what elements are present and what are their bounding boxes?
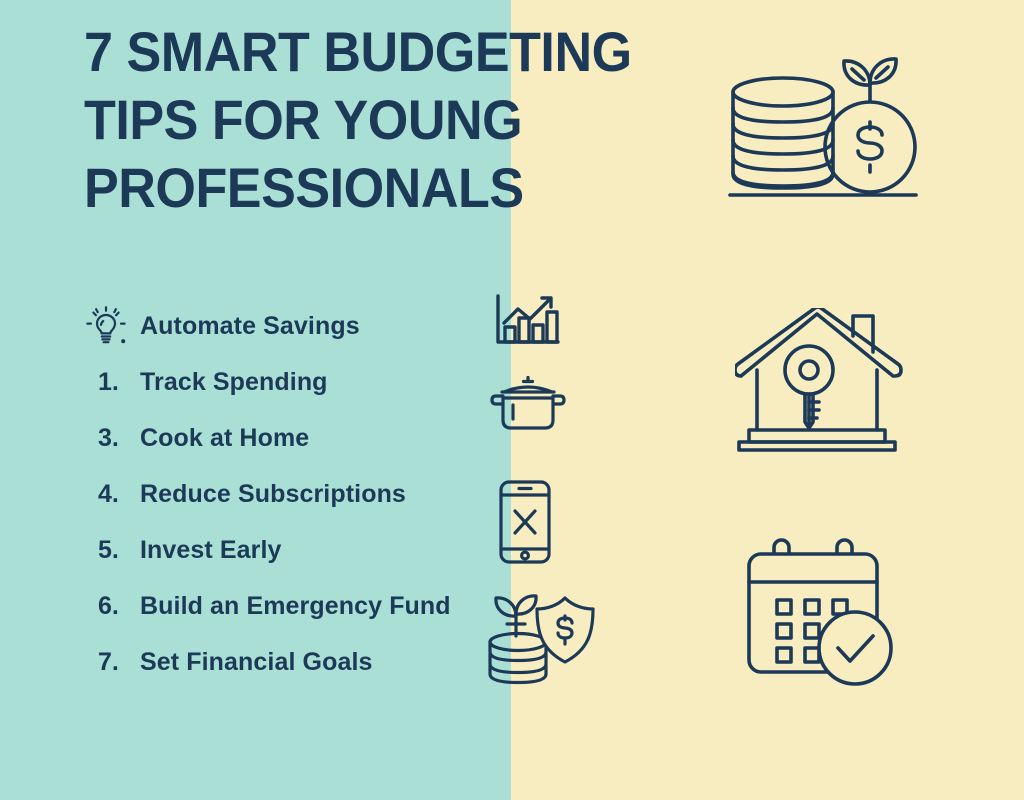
list-item: 7. Set Financial Goals: [84, 634, 504, 690]
list-item-label: Build an Emergency Fund: [140, 592, 451, 621]
phone-cancel-icon: [494, 478, 556, 566]
house-key-icon: [735, 308, 905, 453]
list-item: 6. Build an Emergency Fund: [84, 578, 504, 634]
list-item-number: 6.: [84, 592, 140, 621]
coins-sprout-shield-icon: [480, 586, 600, 686]
list-item: 4. Reduce Subscriptions: [84, 466, 504, 522]
list-item-number: 5.: [84, 536, 140, 565]
infographic-poster: 7 SMART BUDGETING TIPS FOR YOUNG PROFESS…: [0, 0, 1024, 800]
list-item: 5. Invest Early: [84, 522, 504, 578]
list-item-label: Track Spending: [140, 368, 328, 397]
tips-list: Automate Savings 1. Track Spending 3. Co…: [84, 298, 504, 690]
list-item: Automate Savings: [84, 298, 504, 354]
list-item-number: 4.: [84, 480, 140, 509]
list-item-label: Invest Early: [140, 536, 282, 565]
page-title: 7 SMART BUDGETING TIPS FOR YOUNG PROFESS…: [84, 18, 661, 221]
list-item-number: 3.: [84, 424, 140, 453]
list-item-label: Cook at Home: [140, 424, 309, 453]
calendar-check-icon: [745, 538, 900, 688]
bar-chart-growth-icon: [492, 292, 562, 348]
list-item-label: Automate Savings: [140, 312, 360, 341]
list-item: 1. Track Spending: [84, 354, 504, 410]
cooking-pot-icon: [487, 374, 569, 432]
list-item: 3. Cook at Home: [84, 410, 504, 466]
lightbulb-icon: [84, 304, 140, 348]
list-item-label: Set Financial Goals: [140, 648, 373, 677]
list-item-number: 1.: [84, 368, 140, 397]
list-item-number: 7.: [84, 648, 140, 677]
coin-stack-money-plant-icon: [728, 55, 918, 205]
list-item-label: Reduce Subscriptions: [140, 480, 406, 509]
